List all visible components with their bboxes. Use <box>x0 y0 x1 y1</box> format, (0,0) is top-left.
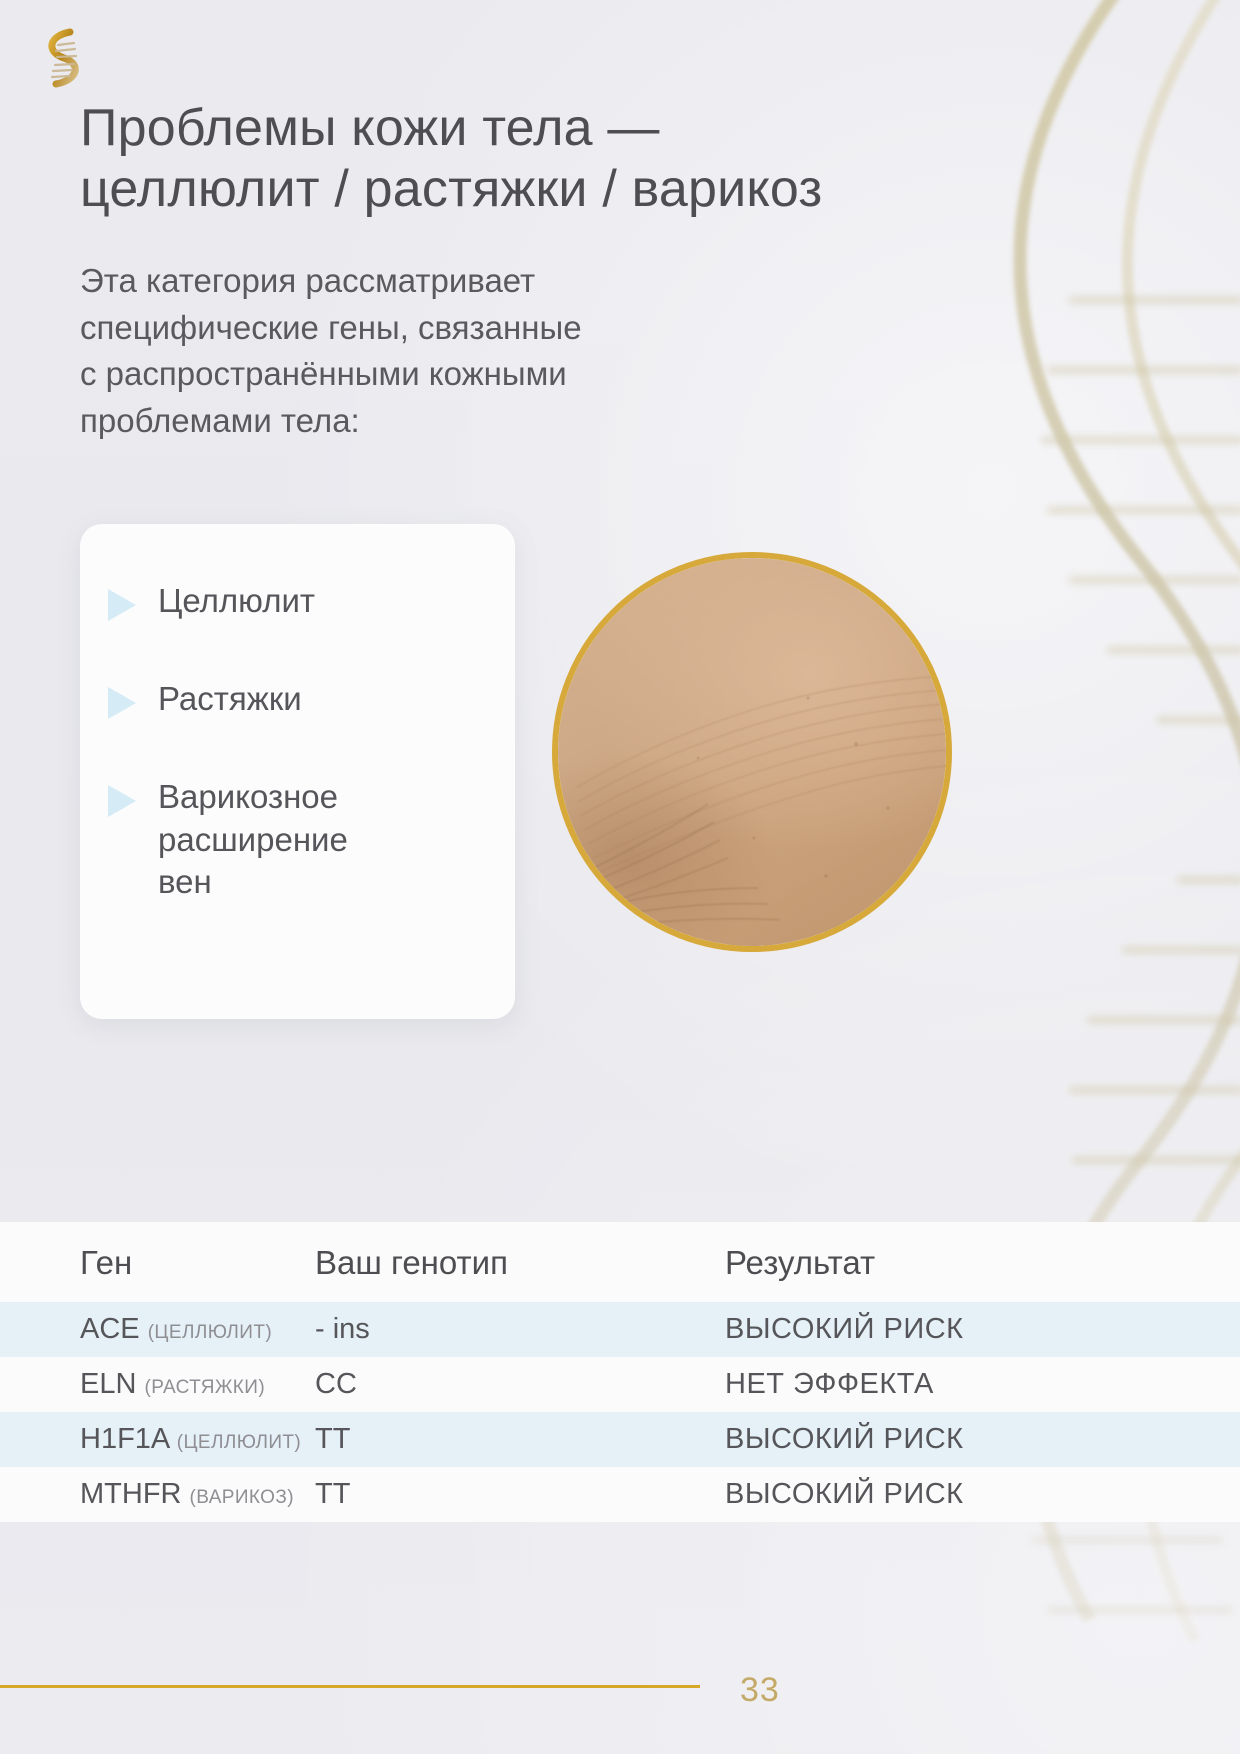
table-row: MTHFR (ВАРИКОЗ) TT ВЫСОКИЙ РИСК <box>0 1467 1240 1522</box>
cell-result: ВЫСОКИЙ РИСК <box>725 1467 1240 1522</box>
heading-block: Проблемы кожи тела — целлюлит / растяжки… <box>80 98 980 445</box>
gene-symbol: ELN <box>80 1368 136 1400</box>
slide-page: Проблемы кожи тела — целлюлит / растяжки… <box>0 0 1240 1754</box>
skin-texture <box>558 558 946 946</box>
cell-genotype: TT <box>315 1412 725 1467</box>
conditions-card: Целлюлит Растяжки Варикозное расширение … <box>80 524 515 1019</box>
table-header-row: Ген Ваш генотип Результат <box>0 1222 1240 1302</box>
gene-trait: (ЦЕЛЛЮЛИТ) <box>148 1322 272 1343</box>
column-header-gene: Ген <box>0 1222 315 1302</box>
cell-result: ВЫСОКИЙ РИСК <box>725 1412 1240 1467</box>
list-item: Варикозное расширение вен <box>108 776 495 903</box>
skin-closeup-photo <box>552 552 952 952</box>
table-row: ELN (РАСТЯЖКИ) CC НЕТ ЭФФЕКТА <box>0 1357 1240 1412</box>
page-footer: 33 <box>0 1515 1240 1754</box>
table-row: H1F1A (ЦЕЛЛЮЛИТ) TT ВЫСОКИЙ РИСК <box>0 1412 1240 1467</box>
list-item: Растяжки <box>108 678 495 720</box>
triangle-right-icon <box>108 589 136 621</box>
list-item: Целлюлит <box>108 580 495 622</box>
gene-symbol: ACE <box>80 1313 140 1345</box>
list-item-label: Варикозное расширение вен <box>158 776 348 903</box>
column-header-genotype: Ваш генотип <box>315 1222 725 1302</box>
gene-trait: (ЦЕЛЛЮЛИТ) <box>177 1432 301 1453</box>
gene-trait: (ВАРИКОЗ) <box>190 1487 294 1508</box>
gene-trait: (РАСТЯЖКИ) <box>144 1377 265 1398</box>
cell-gene: ELN (РАСТЯЖКИ) <box>0 1357 315 1412</box>
gene-symbol: MTHFR <box>80 1478 181 1510</box>
cell-gene: MTHFR (ВАРИКОЗ) <box>0 1467 315 1522</box>
list-item-label: Растяжки <box>158 678 302 720</box>
triangle-right-icon <box>108 687 136 719</box>
table-row: ACE (ЦЕЛЛЮЛИТ) - ins ВЫСОКИЙ РИСК <box>0 1302 1240 1357</box>
cell-genotype: CC <box>315 1357 725 1412</box>
triangle-right-icon <box>108 785 136 817</box>
page-number: 33 <box>740 1671 780 1710</box>
conditions-list: Целлюлит Растяжки Варикозное расширение … <box>108 580 495 903</box>
gene-symbol: H1F1A <box>80 1423 169 1455</box>
list-item-label: Целлюлит <box>158 580 315 622</box>
cell-result: НЕТ ЭФФЕКТА <box>725 1357 1240 1412</box>
column-header-result: Результат <box>725 1222 1240 1302</box>
cell-gene: ACE (ЦЕЛЛЮЛИТ) <box>0 1302 315 1357</box>
genotype-results-table: Ген Ваш генотип Результат ACE (ЦЕЛЛЮЛИТ)… <box>0 1222 1240 1515</box>
cell-result: ВЫСОКИЙ РИСК <box>725 1302 1240 1357</box>
page-title: Проблемы кожи тела — целлюлит / растяжки… <box>80 98 980 220</box>
footer-divider <box>0 1685 700 1688</box>
cell-genotype: TT <box>315 1467 725 1522</box>
dna-helix-logo <box>30 22 94 94</box>
cell-gene: H1F1A (ЦЕЛЛЮЛИТ) <box>0 1412 315 1467</box>
page-intro-paragraph: Эта категория рассматривает специфически… <box>80 258 980 445</box>
cell-genotype: - ins <box>315 1302 725 1357</box>
